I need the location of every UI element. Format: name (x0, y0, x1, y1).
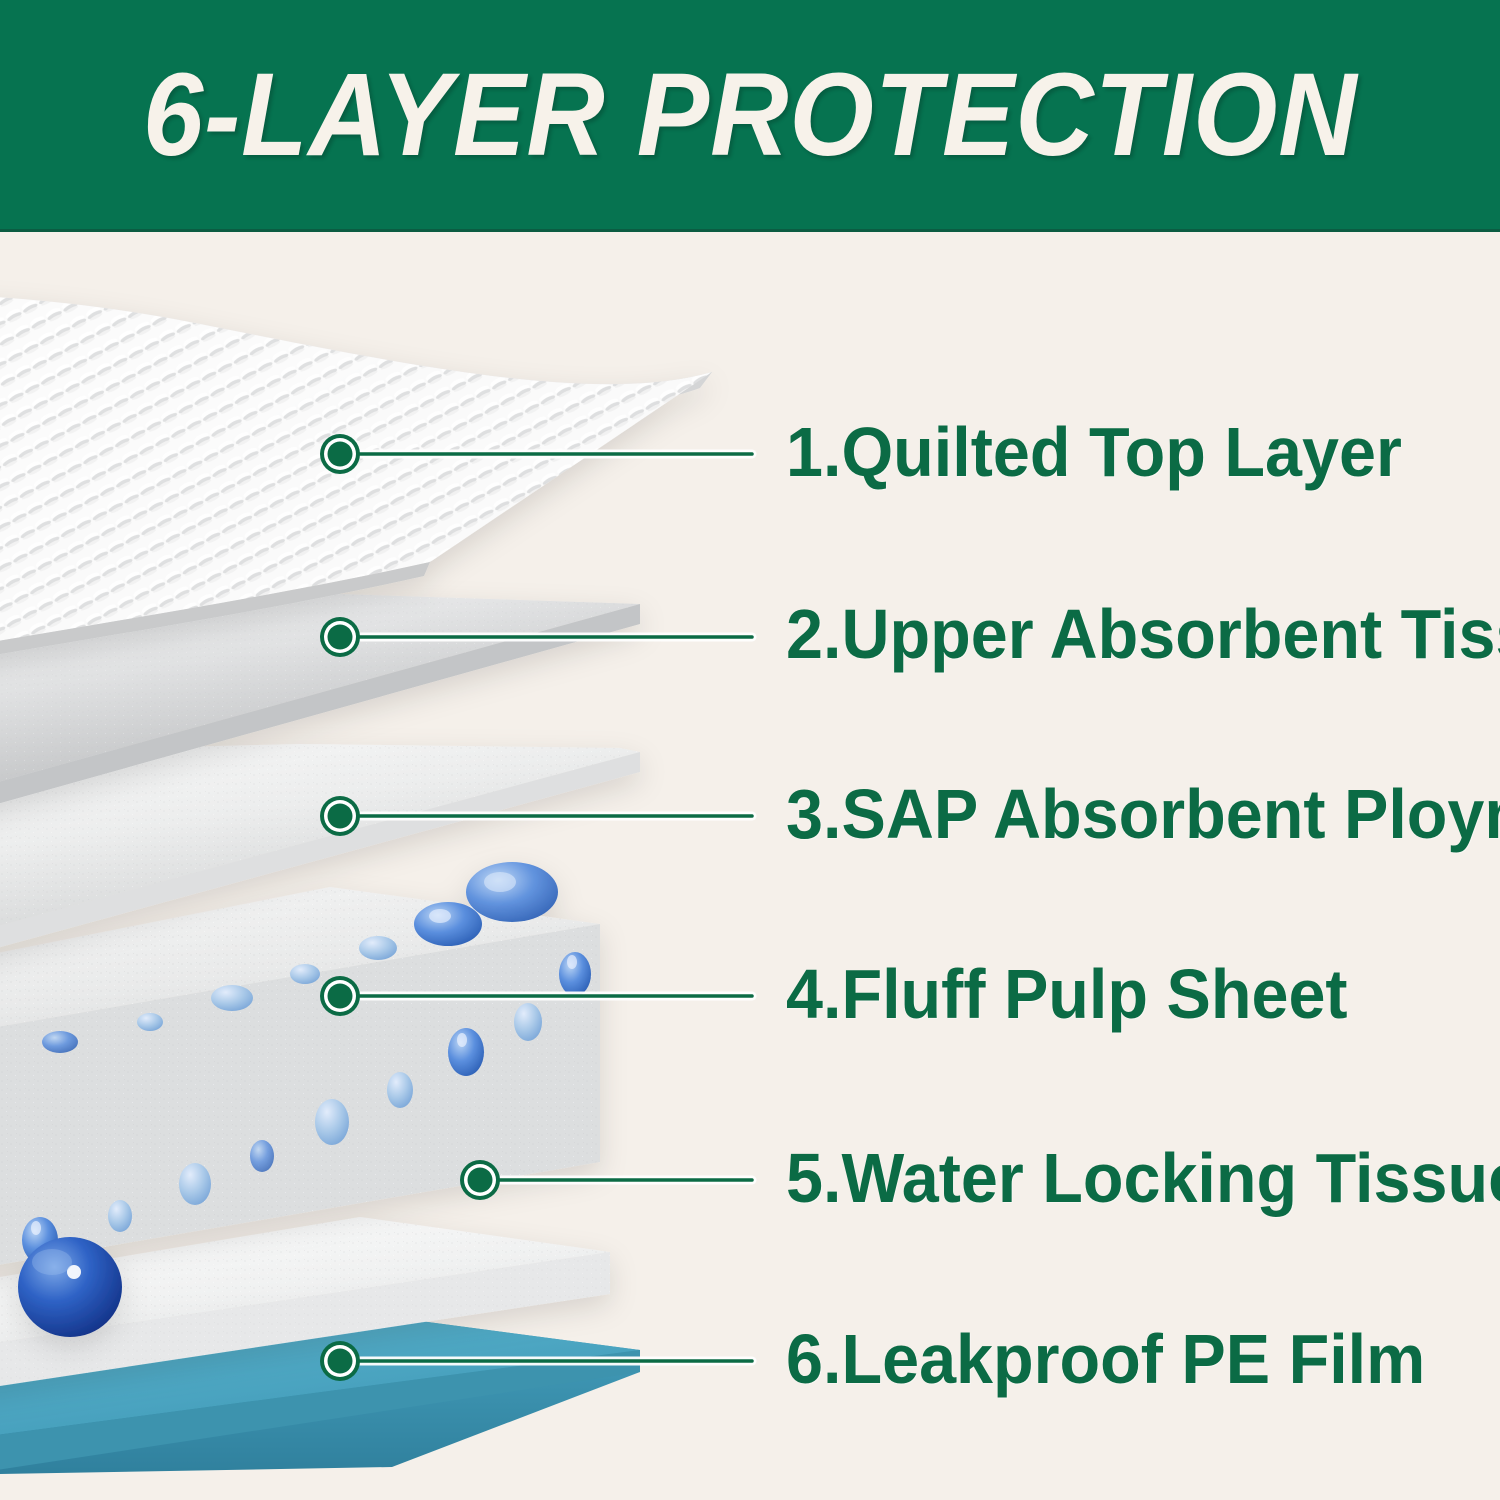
layer-5-label: 5.Water Locking Tissue (786, 1143, 1500, 1213)
layer-3-label: 3.SAP Absorbent Ploymer (786, 779, 1500, 849)
layer-1-label: 1.Quilted Top Layer (786, 417, 1402, 487)
header-banner: 6-LAYER PROTECTION (0, 0, 1500, 232)
page-title: 6-LAYER PROTECTION (143, 56, 1358, 174)
infographic-root: 6-LAYER PROTECTION (0, 0, 1500, 1500)
hero-water-droplet (18, 1237, 122, 1337)
layer-2-label: 2.Upper Absorbent Tissue (786, 599, 1500, 669)
layer-4-label: 4.Fluff Pulp Sheet (786, 959, 1348, 1029)
layer-6-label: 6.Leakproof PE Film (786, 1324, 1425, 1394)
